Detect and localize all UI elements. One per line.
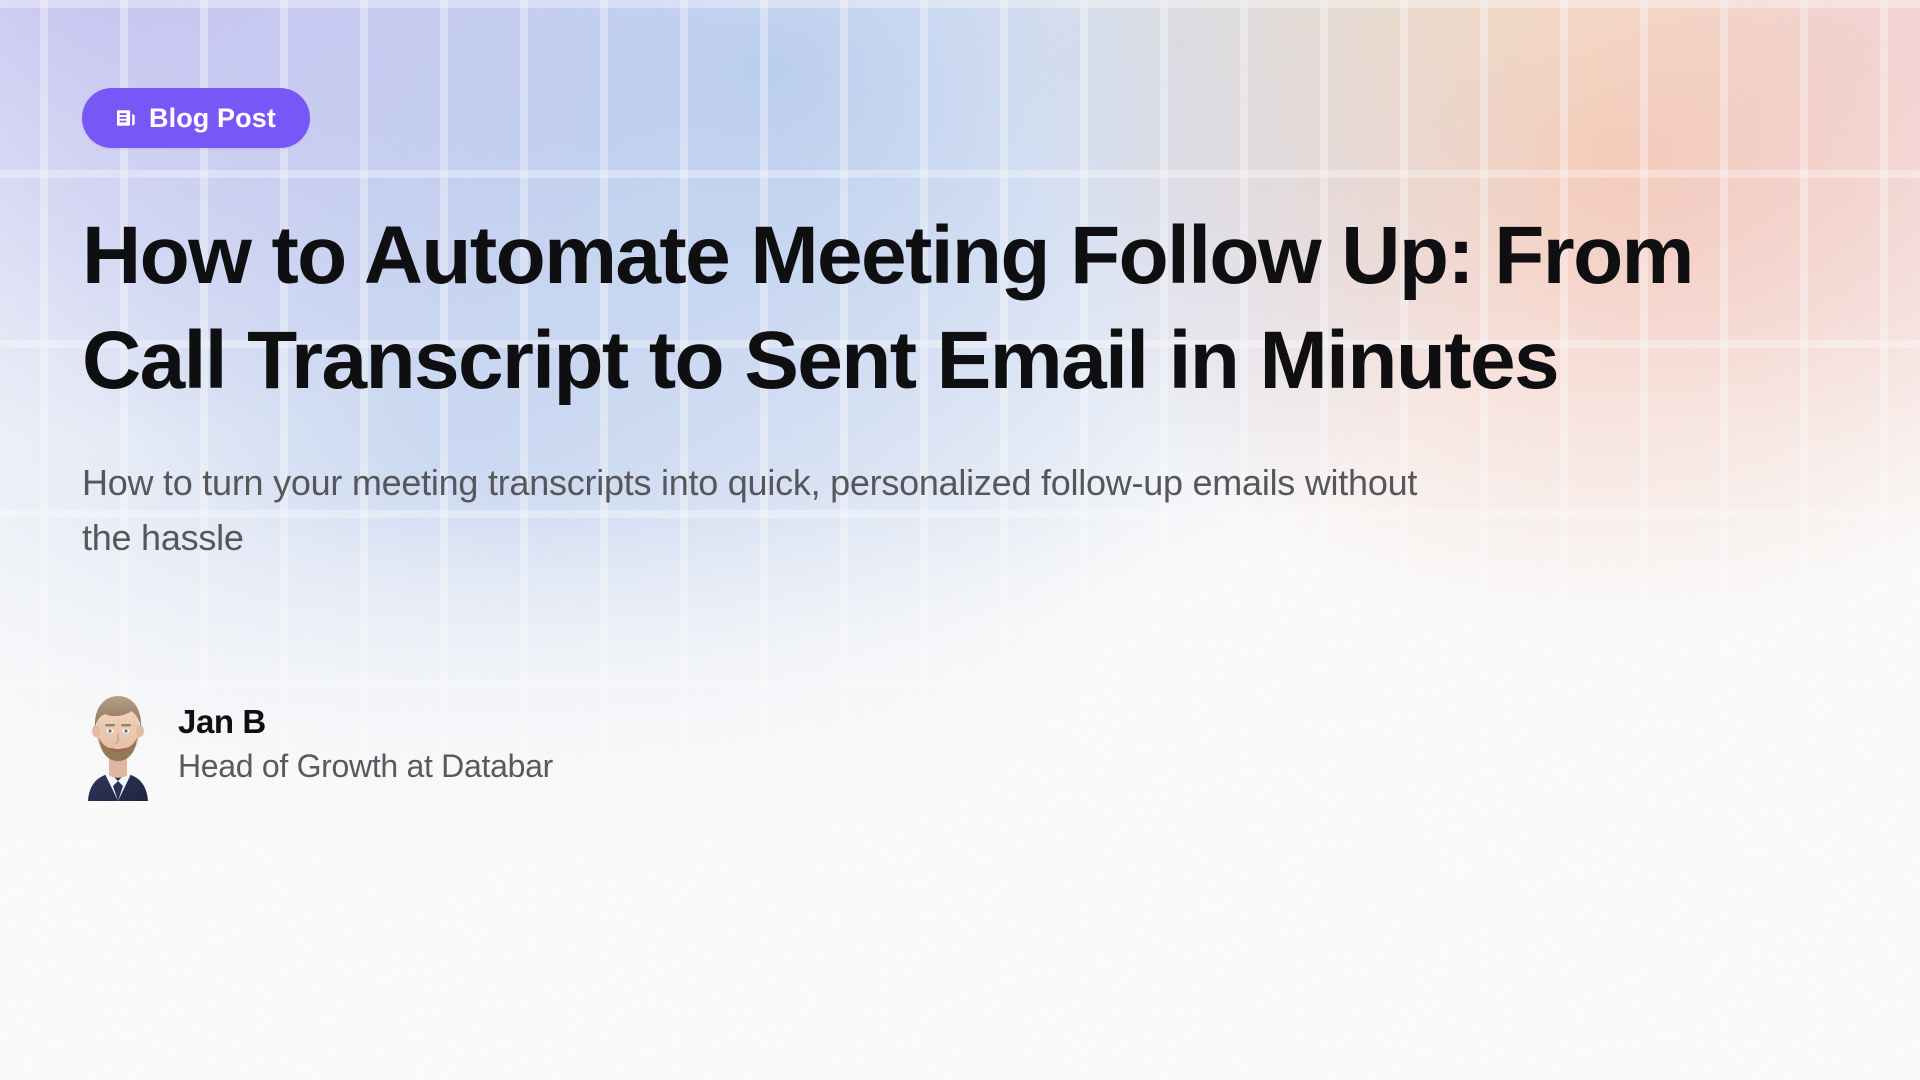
blog-post-hero: Blog Post How to Automate Meeting Follow… xyxy=(0,0,1920,1080)
page-subtitle: How to turn your meeting transcripts int… xyxy=(82,456,1422,565)
author-meta: Jan B Head of Growth at Databar xyxy=(178,697,553,787)
author-name: Jan B xyxy=(178,701,553,742)
badge-blog-post[interactable]: Blog Post xyxy=(82,88,310,148)
hero-content: Blog Post How to Automate Meeting Follow… xyxy=(0,0,1920,801)
newspaper-icon xyxy=(114,106,138,130)
author-byline: Jan B Head of Growth at Databar xyxy=(82,683,1920,801)
author-role: Head of Growth at Databar xyxy=(178,746,553,787)
badge-label: Blog Post xyxy=(149,105,276,132)
avatar xyxy=(82,683,154,801)
page-title: How to Automate Meeting Follow Up: From … xyxy=(82,204,1732,414)
